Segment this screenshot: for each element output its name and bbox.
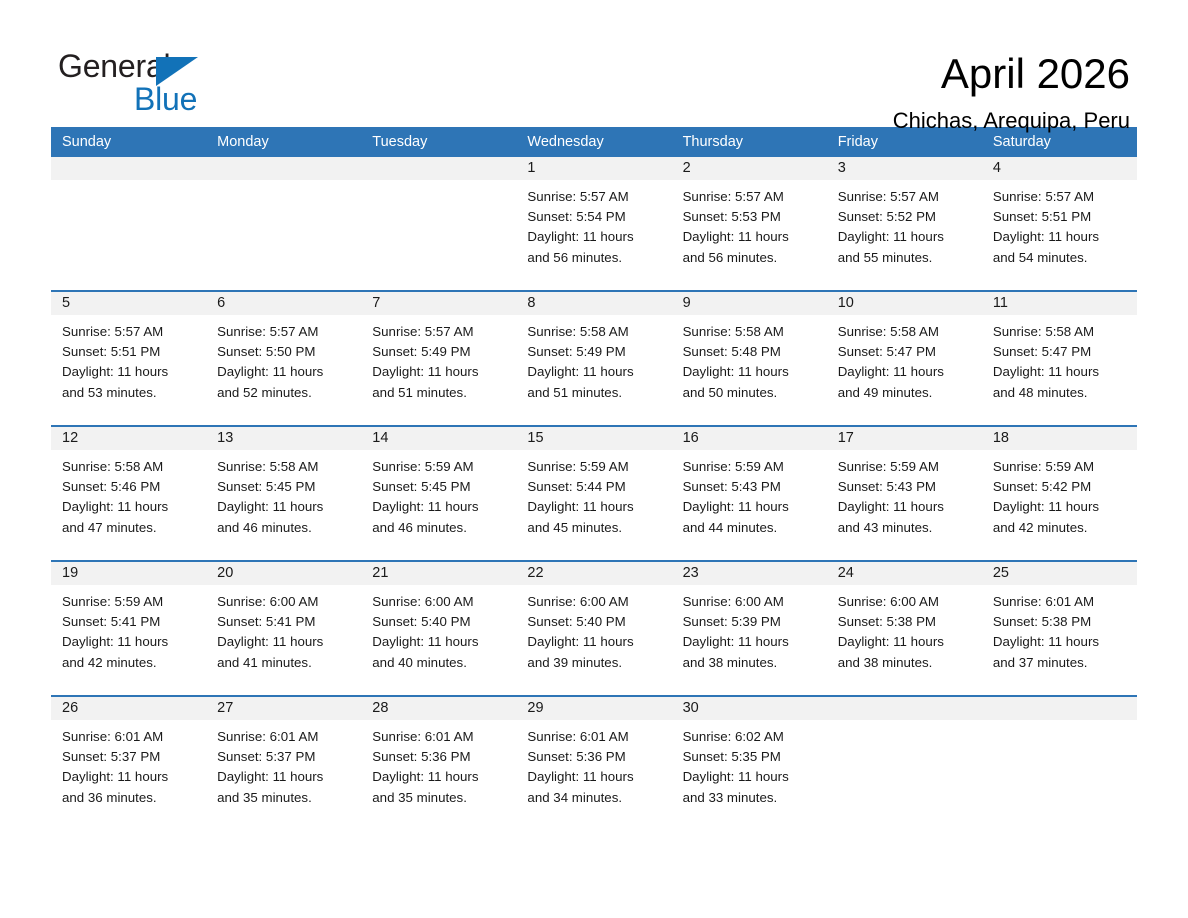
calendar-grid: Sunday Monday Tuesday Wednesday Thursday… bbox=[51, 127, 1137, 829]
day-cell-empty bbox=[206, 157, 361, 290]
sunset-text: Sunset: 5:51 PM bbox=[993, 207, 1127, 227]
daylight-text-line1: Daylight: 11 hours bbox=[527, 227, 661, 247]
daylight-text-line1: Daylight: 11 hours bbox=[62, 362, 196, 382]
weekday-header-thursday: Thursday bbox=[672, 127, 827, 157]
day-cell[interactable]: 30Sunrise: 6:02 AMSunset: 5:35 PMDayligh… bbox=[672, 697, 827, 829]
day-cell[interactable]: 21Sunrise: 6:00 AMSunset: 5:40 PMDayligh… bbox=[361, 562, 516, 695]
sunset-text: Sunset: 5:40 PM bbox=[372, 612, 506, 632]
sunset-text: Sunset: 5:45 PM bbox=[372, 477, 506, 497]
daylight-text-line2: and 56 minutes. bbox=[527, 248, 661, 268]
sunrise-text: Sunrise: 6:01 AM bbox=[372, 727, 506, 747]
daylight-text-line2: and 46 minutes. bbox=[217, 518, 351, 538]
daylight-text-line1: Daylight: 11 hours bbox=[683, 632, 817, 652]
day-cell[interactable]: 28Sunrise: 6:01 AMSunset: 5:36 PMDayligh… bbox=[361, 697, 516, 829]
calendar-weeks: 1Sunrise: 5:57 AMSunset: 5:54 PMDaylight… bbox=[51, 157, 1137, 829]
day-number: 8 bbox=[516, 292, 671, 315]
day-details: Sunrise: 6:01 AMSunset: 5:36 PMDaylight:… bbox=[516, 720, 671, 808]
daylight-text-line2: and 41 minutes. bbox=[217, 653, 351, 673]
calendar-week-row: 19Sunrise: 5:59 AMSunset: 5:41 PMDayligh… bbox=[51, 560, 1137, 695]
sunrise-text: Sunrise: 6:00 AM bbox=[217, 592, 351, 612]
day-cell[interactable]: 16Sunrise: 5:59 AMSunset: 5:43 PMDayligh… bbox=[672, 427, 827, 560]
daylight-text-line2: and 50 minutes. bbox=[683, 383, 817, 403]
day-number: 26 bbox=[51, 697, 206, 720]
daylight-text-line1: Daylight: 11 hours bbox=[527, 497, 661, 517]
daylight-text-line2: and 54 minutes. bbox=[993, 248, 1127, 268]
sunset-text: Sunset: 5:38 PM bbox=[993, 612, 1127, 632]
logo-text-blue: Blue bbox=[134, 83, 197, 115]
day-number: 20 bbox=[206, 562, 361, 585]
day-number bbox=[982, 697, 1137, 720]
sunset-text: Sunset: 5:37 PM bbox=[217, 747, 351, 767]
day-number: 14 bbox=[361, 427, 516, 450]
daylight-text-line2: and 42 minutes. bbox=[62, 653, 196, 673]
day-details: Sunrise: 5:57 AMSunset: 5:54 PMDaylight:… bbox=[516, 180, 671, 268]
daylight-text-line2: and 34 minutes. bbox=[527, 788, 661, 808]
day-cell[interactable]: 5Sunrise: 5:57 AMSunset: 5:51 PMDaylight… bbox=[51, 292, 206, 425]
sunset-text: Sunset: 5:47 PM bbox=[993, 342, 1127, 362]
daylight-text-line2: and 46 minutes. bbox=[372, 518, 506, 538]
day-cell[interactable]: 18Sunrise: 5:59 AMSunset: 5:42 PMDayligh… bbox=[982, 427, 1137, 560]
sunrise-text: Sunrise: 6:02 AM bbox=[683, 727, 817, 747]
daylight-text-line2: and 47 minutes. bbox=[62, 518, 196, 538]
daylight-text-line1: Daylight: 11 hours bbox=[527, 362, 661, 382]
day-cell[interactable]: 11Sunrise: 5:58 AMSunset: 5:47 PMDayligh… bbox=[982, 292, 1137, 425]
page-title: April 2026 bbox=[893, 52, 1130, 96]
day-details: Sunrise: 5:57 AMSunset: 5:51 PMDaylight:… bbox=[51, 315, 206, 403]
sunset-text: Sunset: 5:53 PM bbox=[683, 207, 817, 227]
calendar-week-row: 1Sunrise: 5:57 AMSunset: 5:54 PMDaylight… bbox=[51, 157, 1137, 290]
daylight-text-line1: Daylight: 11 hours bbox=[217, 497, 351, 517]
daylight-text-line1: Daylight: 11 hours bbox=[217, 362, 351, 382]
sunset-text: Sunset: 5:52 PM bbox=[838, 207, 972, 227]
sunrise-text: Sunrise: 5:57 AM bbox=[62, 322, 196, 342]
day-details: Sunrise: 6:00 AMSunset: 5:38 PMDaylight:… bbox=[827, 585, 982, 673]
sunrise-text: Sunrise: 6:01 AM bbox=[993, 592, 1127, 612]
day-cell[interactable]: 29Sunrise: 6:01 AMSunset: 5:36 PMDayligh… bbox=[516, 697, 671, 829]
sunrise-text: Sunrise: 5:57 AM bbox=[993, 187, 1127, 207]
daylight-text-line2: and 52 minutes. bbox=[217, 383, 351, 403]
day-number: 10 bbox=[827, 292, 982, 315]
day-cell[interactable]: 27Sunrise: 6:01 AMSunset: 5:37 PMDayligh… bbox=[206, 697, 361, 829]
day-cell-empty bbox=[361, 157, 516, 290]
day-number: 3 bbox=[827, 157, 982, 180]
day-details: Sunrise: 5:58 AMSunset: 5:45 PMDaylight:… bbox=[206, 450, 361, 538]
generalblue-logo[interactable]: General Blue bbox=[58, 50, 248, 130]
sunrise-text: Sunrise: 5:59 AM bbox=[62, 592, 196, 612]
day-cell[interactable]: 13Sunrise: 5:58 AMSunset: 5:45 PMDayligh… bbox=[206, 427, 361, 560]
weekday-header-sunday: Sunday bbox=[51, 127, 206, 157]
daylight-text-line1: Daylight: 11 hours bbox=[838, 227, 972, 247]
day-number bbox=[51, 157, 206, 180]
day-number: 24 bbox=[827, 562, 982, 585]
title-block: April 2026 Chichas, Arequipa, Peru bbox=[893, 50, 1130, 134]
sunset-text: Sunset: 5:43 PM bbox=[838, 477, 972, 497]
day-cell[interactable]: 25Sunrise: 6:01 AMSunset: 5:38 PMDayligh… bbox=[982, 562, 1137, 695]
sunrise-text: Sunrise: 5:57 AM bbox=[527, 187, 661, 207]
day-number: 21 bbox=[361, 562, 516, 585]
day-number: 11 bbox=[982, 292, 1137, 315]
sunrise-text: Sunrise: 6:00 AM bbox=[683, 592, 817, 612]
daylight-text-line2: and 55 minutes. bbox=[838, 248, 972, 268]
sunrise-text: Sunrise: 5:57 AM bbox=[838, 187, 972, 207]
day-details: Sunrise: 5:58 AMSunset: 5:48 PMDaylight:… bbox=[672, 315, 827, 403]
day-details: Sunrise: 5:58 AMSunset: 5:47 PMDaylight:… bbox=[982, 315, 1137, 403]
day-details: Sunrise: 6:01 AMSunset: 5:38 PMDaylight:… bbox=[982, 585, 1137, 673]
daylight-text-line1: Daylight: 11 hours bbox=[62, 497, 196, 517]
day-number: 18 bbox=[982, 427, 1137, 450]
day-cell[interactable]: 7Sunrise: 5:57 AMSunset: 5:49 PMDaylight… bbox=[361, 292, 516, 425]
sunrise-text: Sunrise: 5:58 AM bbox=[62, 457, 196, 477]
sunrise-text: Sunrise: 5:58 AM bbox=[527, 322, 661, 342]
day-details: Sunrise: 5:59 AMSunset: 5:41 PMDaylight:… bbox=[51, 585, 206, 673]
daylight-text-line1: Daylight: 11 hours bbox=[372, 497, 506, 517]
daylight-text-line1: Daylight: 11 hours bbox=[838, 497, 972, 517]
day-details: Sunrise: 5:57 AMSunset: 5:53 PMDaylight:… bbox=[672, 180, 827, 268]
day-details: Sunrise: 6:01 AMSunset: 5:37 PMDaylight:… bbox=[206, 720, 361, 808]
sunrise-text: Sunrise: 5:59 AM bbox=[993, 457, 1127, 477]
sunset-text: Sunset: 5:42 PM bbox=[993, 477, 1127, 497]
day-details: Sunrise: 6:00 AMSunset: 5:40 PMDaylight:… bbox=[361, 585, 516, 673]
daylight-text-line2: and 37 minutes. bbox=[993, 653, 1127, 673]
day-number: 4 bbox=[982, 157, 1137, 180]
day-number: 30 bbox=[672, 697, 827, 720]
day-details: Sunrise: 5:57 AMSunset: 5:52 PMDaylight:… bbox=[827, 180, 982, 268]
day-number bbox=[206, 157, 361, 180]
day-number: 2 bbox=[672, 157, 827, 180]
sunset-text: Sunset: 5:46 PM bbox=[62, 477, 196, 497]
daylight-text-line1: Daylight: 11 hours bbox=[993, 362, 1127, 382]
daylight-text-line2: and 51 minutes. bbox=[527, 383, 661, 403]
daylight-text-line1: Daylight: 11 hours bbox=[372, 767, 506, 787]
day-cell[interactable]: 9Sunrise: 5:58 AMSunset: 5:48 PMDaylight… bbox=[672, 292, 827, 425]
daylight-text-line2: and 45 minutes. bbox=[527, 518, 661, 538]
day-cell[interactable]: 20Sunrise: 6:00 AMSunset: 5:41 PMDayligh… bbox=[206, 562, 361, 695]
day-number: 13 bbox=[206, 427, 361, 450]
day-details: Sunrise: 5:59 AMSunset: 5:45 PMDaylight:… bbox=[361, 450, 516, 538]
daylight-text-line2: and 33 minutes. bbox=[683, 788, 817, 808]
day-cell[interactable]: 23Sunrise: 6:00 AMSunset: 5:39 PMDayligh… bbox=[672, 562, 827, 695]
day-number: 6 bbox=[206, 292, 361, 315]
sunrise-text: Sunrise: 5:57 AM bbox=[683, 187, 817, 207]
daylight-text-line1: Daylight: 11 hours bbox=[683, 497, 817, 517]
sunrise-text: Sunrise: 5:59 AM bbox=[527, 457, 661, 477]
daylight-text-line1: Daylight: 11 hours bbox=[62, 632, 196, 652]
sunrise-text: Sunrise: 5:58 AM bbox=[683, 322, 817, 342]
day-cell[interactable]: 22Sunrise: 6:00 AMSunset: 5:40 PMDayligh… bbox=[516, 562, 671, 695]
day-cell[interactable]: 15Sunrise: 5:59 AMSunset: 5:44 PMDayligh… bbox=[516, 427, 671, 560]
daylight-text-line2: and 38 minutes. bbox=[683, 653, 817, 673]
daylight-text-line2: and 35 minutes. bbox=[217, 788, 351, 808]
weekday-header-friday: Friday bbox=[827, 127, 982, 157]
day-details: Sunrise: 5:59 AMSunset: 5:43 PMDaylight:… bbox=[672, 450, 827, 538]
daylight-text-line1: Daylight: 11 hours bbox=[838, 362, 972, 382]
daylight-text-line2: and 56 minutes. bbox=[683, 248, 817, 268]
sunset-text: Sunset: 5:37 PM bbox=[62, 747, 196, 767]
day-number bbox=[827, 697, 982, 720]
calendar-week-row: 5Sunrise: 5:57 AMSunset: 5:51 PMDaylight… bbox=[51, 290, 1137, 425]
day-details: Sunrise: 6:01 AMSunset: 5:36 PMDaylight:… bbox=[361, 720, 516, 808]
day-details: Sunrise: 5:59 AMSunset: 5:43 PMDaylight:… bbox=[827, 450, 982, 538]
daylight-text-line2: and 35 minutes. bbox=[372, 788, 506, 808]
sunset-text: Sunset: 5:49 PM bbox=[527, 342, 661, 362]
sunrise-text: Sunrise: 5:58 AM bbox=[838, 322, 972, 342]
daylight-text-line1: Daylight: 11 hours bbox=[683, 362, 817, 382]
day-number: 9 bbox=[672, 292, 827, 315]
day-number: 19 bbox=[51, 562, 206, 585]
sunrise-text: Sunrise: 5:59 AM bbox=[683, 457, 817, 477]
sunrise-text: Sunrise: 6:00 AM bbox=[372, 592, 506, 612]
sunset-text: Sunset: 5:48 PM bbox=[683, 342, 817, 362]
sunset-text: Sunset: 5:41 PM bbox=[62, 612, 196, 632]
weekday-header-saturday: Saturday bbox=[982, 127, 1137, 157]
sunrise-text: Sunrise: 6:01 AM bbox=[62, 727, 196, 747]
day-cell-empty bbox=[827, 697, 982, 829]
day-cell[interactable]: 1Sunrise: 5:57 AMSunset: 5:54 PMDaylight… bbox=[516, 157, 671, 290]
day-number: 25 bbox=[982, 562, 1137, 585]
daylight-text-line1: Daylight: 11 hours bbox=[838, 632, 972, 652]
day-number: 1 bbox=[516, 157, 671, 180]
daylight-text-line1: Daylight: 11 hours bbox=[993, 227, 1127, 247]
daylight-text-line2: and 36 minutes. bbox=[62, 788, 196, 808]
day-number: 7 bbox=[361, 292, 516, 315]
sunset-text: Sunset: 5:36 PM bbox=[372, 747, 506, 767]
day-cell[interactable]: 6Sunrise: 5:57 AMSunset: 5:50 PMDaylight… bbox=[206, 292, 361, 425]
day-number: 28 bbox=[361, 697, 516, 720]
day-number bbox=[361, 157, 516, 180]
weekday-header-monday: Monday bbox=[206, 127, 361, 157]
daylight-text-line2: and 44 minutes. bbox=[683, 518, 817, 538]
day-cell[interactable]: 10Sunrise: 5:58 AMSunset: 5:47 PMDayligh… bbox=[827, 292, 982, 425]
sunrise-text: Sunrise: 6:00 AM bbox=[838, 592, 972, 612]
daylight-text-line1: Daylight: 11 hours bbox=[372, 362, 506, 382]
daylight-text-line2: and 49 minutes. bbox=[838, 383, 972, 403]
day-cell-empty bbox=[982, 697, 1137, 829]
sunrise-text: Sunrise: 6:00 AM bbox=[527, 592, 661, 612]
day-cell[interactable]: 8Sunrise: 5:58 AMSunset: 5:49 PMDaylight… bbox=[516, 292, 671, 425]
sunrise-text: Sunrise: 5:57 AM bbox=[372, 322, 506, 342]
daylight-text-line1: Daylight: 11 hours bbox=[372, 632, 506, 652]
daylight-text-line2: and 39 minutes. bbox=[527, 653, 661, 673]
daylight-text-line2: and 43 minutes. bbox=[838, 518, 972, 538]
weekday-header-tuesday: Tuesday bbox=[361, 127, 516, 157]
sunset-text: Sunset: 5:41 PM bbox=[217, 612, 351, 632]
day-details: Sunrise: 5:57 AMSunset: 5:50 PMDaylight:… bbox=[206, 315, 361, 403]
day-cell[interactable]: 17Sunrise: 5:59 AMSunset: 5:43 PMDayligh… bbox=[827, 427, 982, 560]
calendar-week-row: 26Sunrise: 6:01 AMSunset: 5:37 PMDayligh… bbox=[51, 695, 1137, 829]
sunset-text: Sunset: 5:47 PM bbox=[838, 342, 972, 362]
day-cell[interactable]: 3Sunrise: 5:57 AMSunset: 5:52 PMDaylight… bbox=[827, 157, 982, 290]
daylight-text-line1: Daylight: 11 hours bbox=[217, 632, 351, 652]
day-details: Sunrise: 5:57 AMSunset: 5:51 PMDaylight:… bbox=[982, 180, 1137, 268]
day-cell[interactable]: 19Sunrise: 5:59 AMSunset: 5:41 PMDayligh… bbox=[51, 562, 206, 695]
sunset-text: Sunset: 5:35 PM bbox=[683, 747, 817, 767]
daylight-text-line1: Daylight: 11 hours bbox=[993, 497, 1127, 517]
day-details: Sunrise: 5:59 AMSunset: 5:42 PMDaylight:… bbox=[982, 450, 1137, 538]
sunrise-text: Sunrise: 5:58 AM bbox=[217, 457, 351, 477]
daylight-text-line2: and 42 minutes. bbox=[993, 518, 1127, 538]
sunset-text: Sunset: 5:39 PM bbox=[683, 612, 817, 632]
daylight-text-line2: and 38 minutes. bbox=[838, 653, 972, 673]
day-number: 17 bbox=[827, 427, 982, 450]
daylight-text-line2: and 48 minutes. bbox=[993, 383, 1127, 403]
sunset-text: Sunset: 5:38 PM bbox=[838, 612, 972, 632]
day-details: Sunrise: 6:02 AMSunset: 5:35 PMDaylight:… bbox=[672, 720, 827, 808]
daylight-text-line1: Daylight: 11 hours bbox=[527, 767, 661, 787]
daylight-text-line1: Daylight: 11 hours bbox=[62, 767, 196, 787]
day-number: 29 bbox=[516, 697, 671, 720]
sunset-text: Sunset: 5:43 PM bbox=[683, 477, 817, 497]
logo-text-general: General bbox=[58, 48, 170, 84]
daylight-text-line1: Daylight: 11 hours bbox=[993, 632, 1127, 652]
sunrise-text: Sunrise: 5:59 AM bbox=[838, 457, 972, 477]
sunset-text: Sunset: 5:40 PM bbox=[527, 612, 661, 632]
calendar-page: General Blue April 2026 Chichas, Arequip… bbox=[0, 0, 1188, 918]
sunset-text: Sunset: 5:51 PM bbox=[62, 342, 196, 362]
day-details: Sunrise: 5:58 AMSunset: 5:47 PMDaylight:… bbox=[827, 315, 982, 403]
day-details: Sunrise: 5:58 AMSunset: 5:49 PMDaylight:… bbox=[516, 315, 671, 403]
weekday-header-row: Sunday Monday Tuesday Wednesday Thursday… bbox=[51, 127, 1137, 157]
sunrise-text: Sunrise: 5:57 AM bbox=[217, 322, 351, 342]
sunrise-text: Sunrise: 6:01 AM bbox=[527, 727, 661, 747]
calendar-week-row: 12Sunrise: 5:58 AMSunset: 5:46 PMDayligh… bbox=[51, 425, 1137, 560]
sunset-text: Sunset: 5:50 PM bbox=[217, 342, 351, 362]
day-cell-empty bbox=[51, 157, 206, 290]
day-details: Sunrise: 5:57 AMSunset: 5:49 PMDaylight:… bbox=[361, 315, 516, 403]
sunset-text: Sunset: 5:49 PM bbox=[372, 342, 506, 362]
sunset-text: Sunset: 5:45 PM bbox=[217, 477, 351, 497]
sunrise-text: Sunrise: 5:58 AM bbox=[993, 322, 1127, 342]
daylight-text-line2: and 53 minutes. bbox=[62, 383, 196, 403]
page-header: General Blue April 2026 Chichas, Arequip… bbox=[0, 0, 1188, 108]
day-number: 5 bbox=[51, 292, 206, 315]
daylight-text-line1: Daylight: 11 hours bbox=[217, 767, 351, 787]
day-number: 15 bbox=[516, 427, 671, 450]
day-details: Sunrise: 5:58 AMSunset: 5:46 PMDaylight:… bbox=[51, 450, 206, 538]
day-number: 12 bbox=[51, 427, 206, 450]
day-cell[interactable]: 14Sunrise: 5:59 AMSunset: 5:45 PMDayligh… bbox=[361, 427, 516, 560]
day-cell[interactable]: 4Sunrise: 5:57 AMSunset: 5:51 PMDaylight… bbox=[982, 157, 1137, 290]
day-cell[interactable]: 2Sunrise: 5:57 AMSunset: 5:53 PMDaylight… bbox=[672, 157, 827, 290]
day-cell[interactable]: 26Sunrise: 6:01 AMSunset: 5:37 PMDayligh… bbox=[51, 697, 206, 829]
day-number: 27 bbox=[206, 697, 361, 720]
sunset-text: Sunset: 5:36 PM bbox=[527, 747, 661, 767]
day-cell[interactable]: 12Sunrise: 5:58 AMSunset: 5:46 PMDayligh… bbox=[51, 427, 206, 560]
day-number: 22 bbox=[516, 562, 671, 585]
day-details: Sunrise: 6:00 AMSunset: 5:40 PMDaylight:… bbox=[516, 585, 671, 673]
day-number: 23 bbox=[672, 562, 827, 585]
daylight-text-line2: and 40 minutes. bbox=[372, 653, 506, 673]
day-cell[interactable]: 24Sunrise: 6:00 AMSunset: 5:38 PMDayligh… bbox=[827, 562, 982, 695]
day-details: Sunrise: 6:01 AMSunset: 5:37 PMDaylight:… bbox=[51, 720, 206, 808]
sunrise-text: Sunrise: 6:01 AM bbox=[217, 727, 351, 747]
day-details: Sunrise: 6:00 AMSunset: 5:39 PMDaylight:… bbox=[672, 585, 827, 673]
weekday-header-wednesday: Wednesday bbox=[516, 127, 671, 157]
sunrise-text: Sunrise: 5:59 AM bbox=[372, 457, 506, 477]
sunset-text: Sunset: 5:44 PM bbox=[527, 477, 661, 497]
daylight-text-line1: Daylight: 11 hours bbox=[683, 767, 817, 787]
day-details: Sunrise: 6:00 AMSunset: 5:41 PMDaylight:… bbox=[206, 585, 361, 673]
day-details: Sunrise: 5:59 AMSunset: 5:44 PMDaylight:… bbox=[516, 450, 671, 538]
daylight-text-line1: Daylight: 11 hours bbox=[527, 632, 661, 652]
sunset-text: Sunset: 5:54 PM bbox=[527, 207, 661, 227]
day-number: 16 bbox=[672, 427, 827, 450]
daylight-text-line2: and 51 minutes. bbox=[372, 383, 506, 403]
daylight-text-line1: Daylight: 11 hours bbox=[683, 227, 817, 247]
